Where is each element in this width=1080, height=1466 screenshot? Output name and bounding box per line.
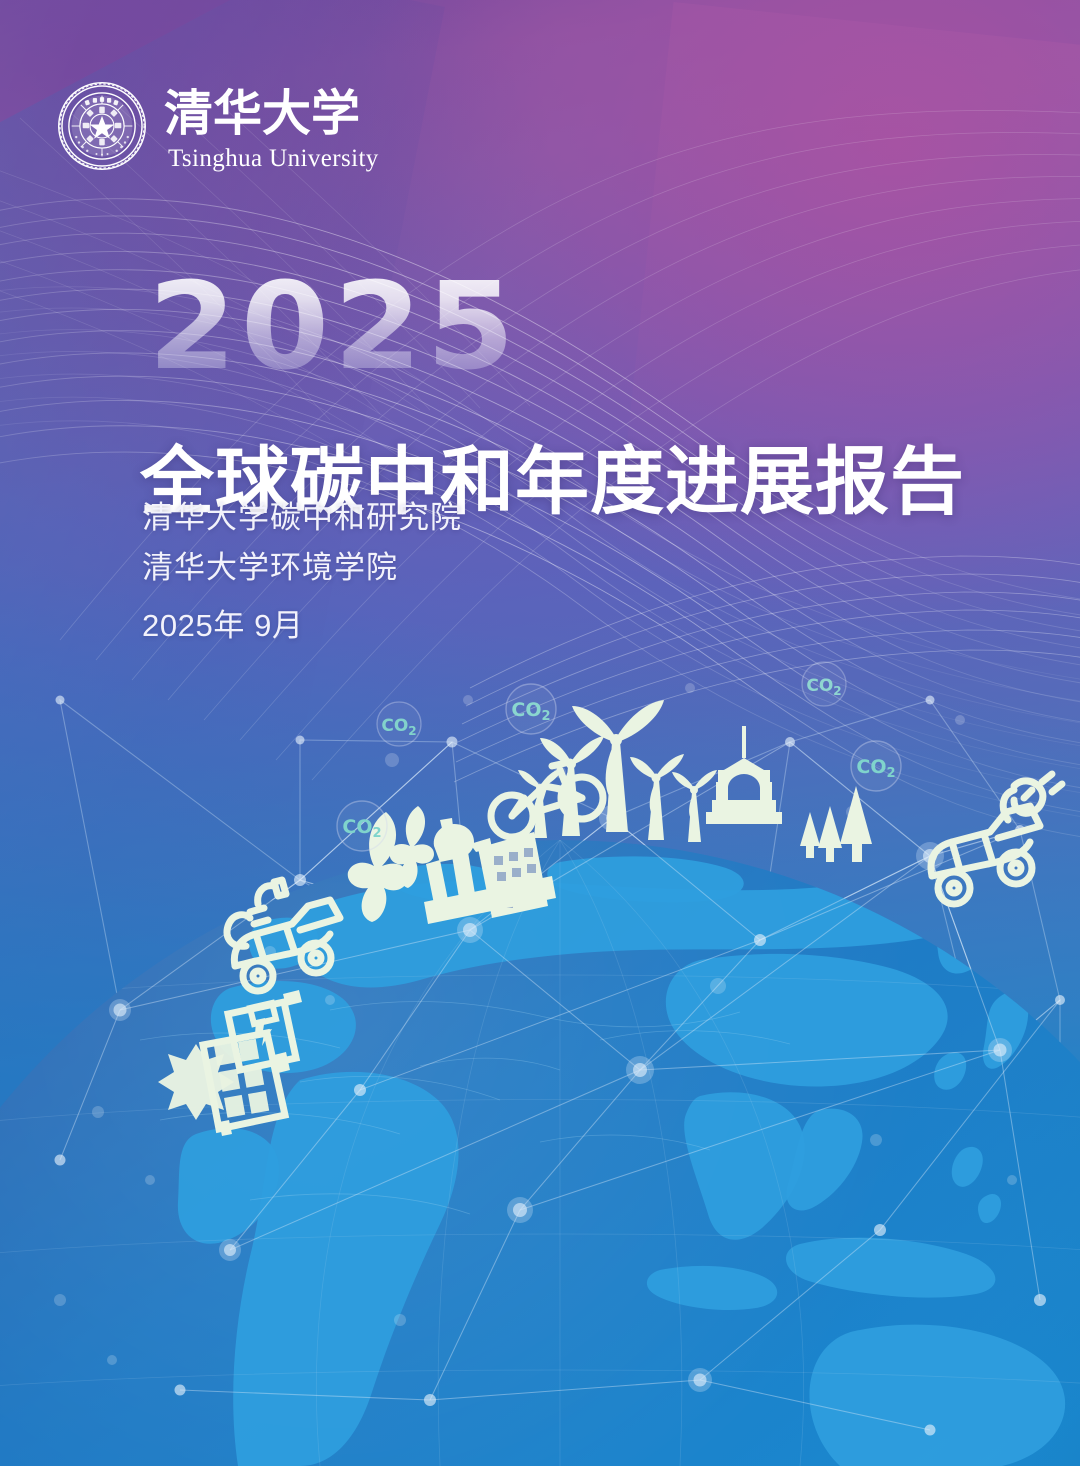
year-display: 2025 [148,268,519,388]
logo-wordmark: 清华大学 Tsinghua University [164,82,379,171]
affiliation-1: 清华大学碳中和研究院 [142,500,462,536]
tsinghua-english-name: Tsinghua University [168,146,379,171]
affiliation-2: 清华大学环境学院 [142,550,462,586]
report-cover: CO2 CO2 CO2 CO2 CO2 [0,0,1080,1466]
tsinghua-university-seal-icon [56,80,148,172]
university-logo: 清华大学 Tsinghua University [56,80,379,172]
affiliation-block: 清华大学碳中和研究院 清华大学环境学院 2025年 9月 [142,500,462,645]
svg-text:清华大学: 清华大学 [164,85,360,142]
tsinghua-chinese-name-icon: 清华大学 [164,82,364,144]
publication-date: 2025年 9月 [142,600,462,645]
